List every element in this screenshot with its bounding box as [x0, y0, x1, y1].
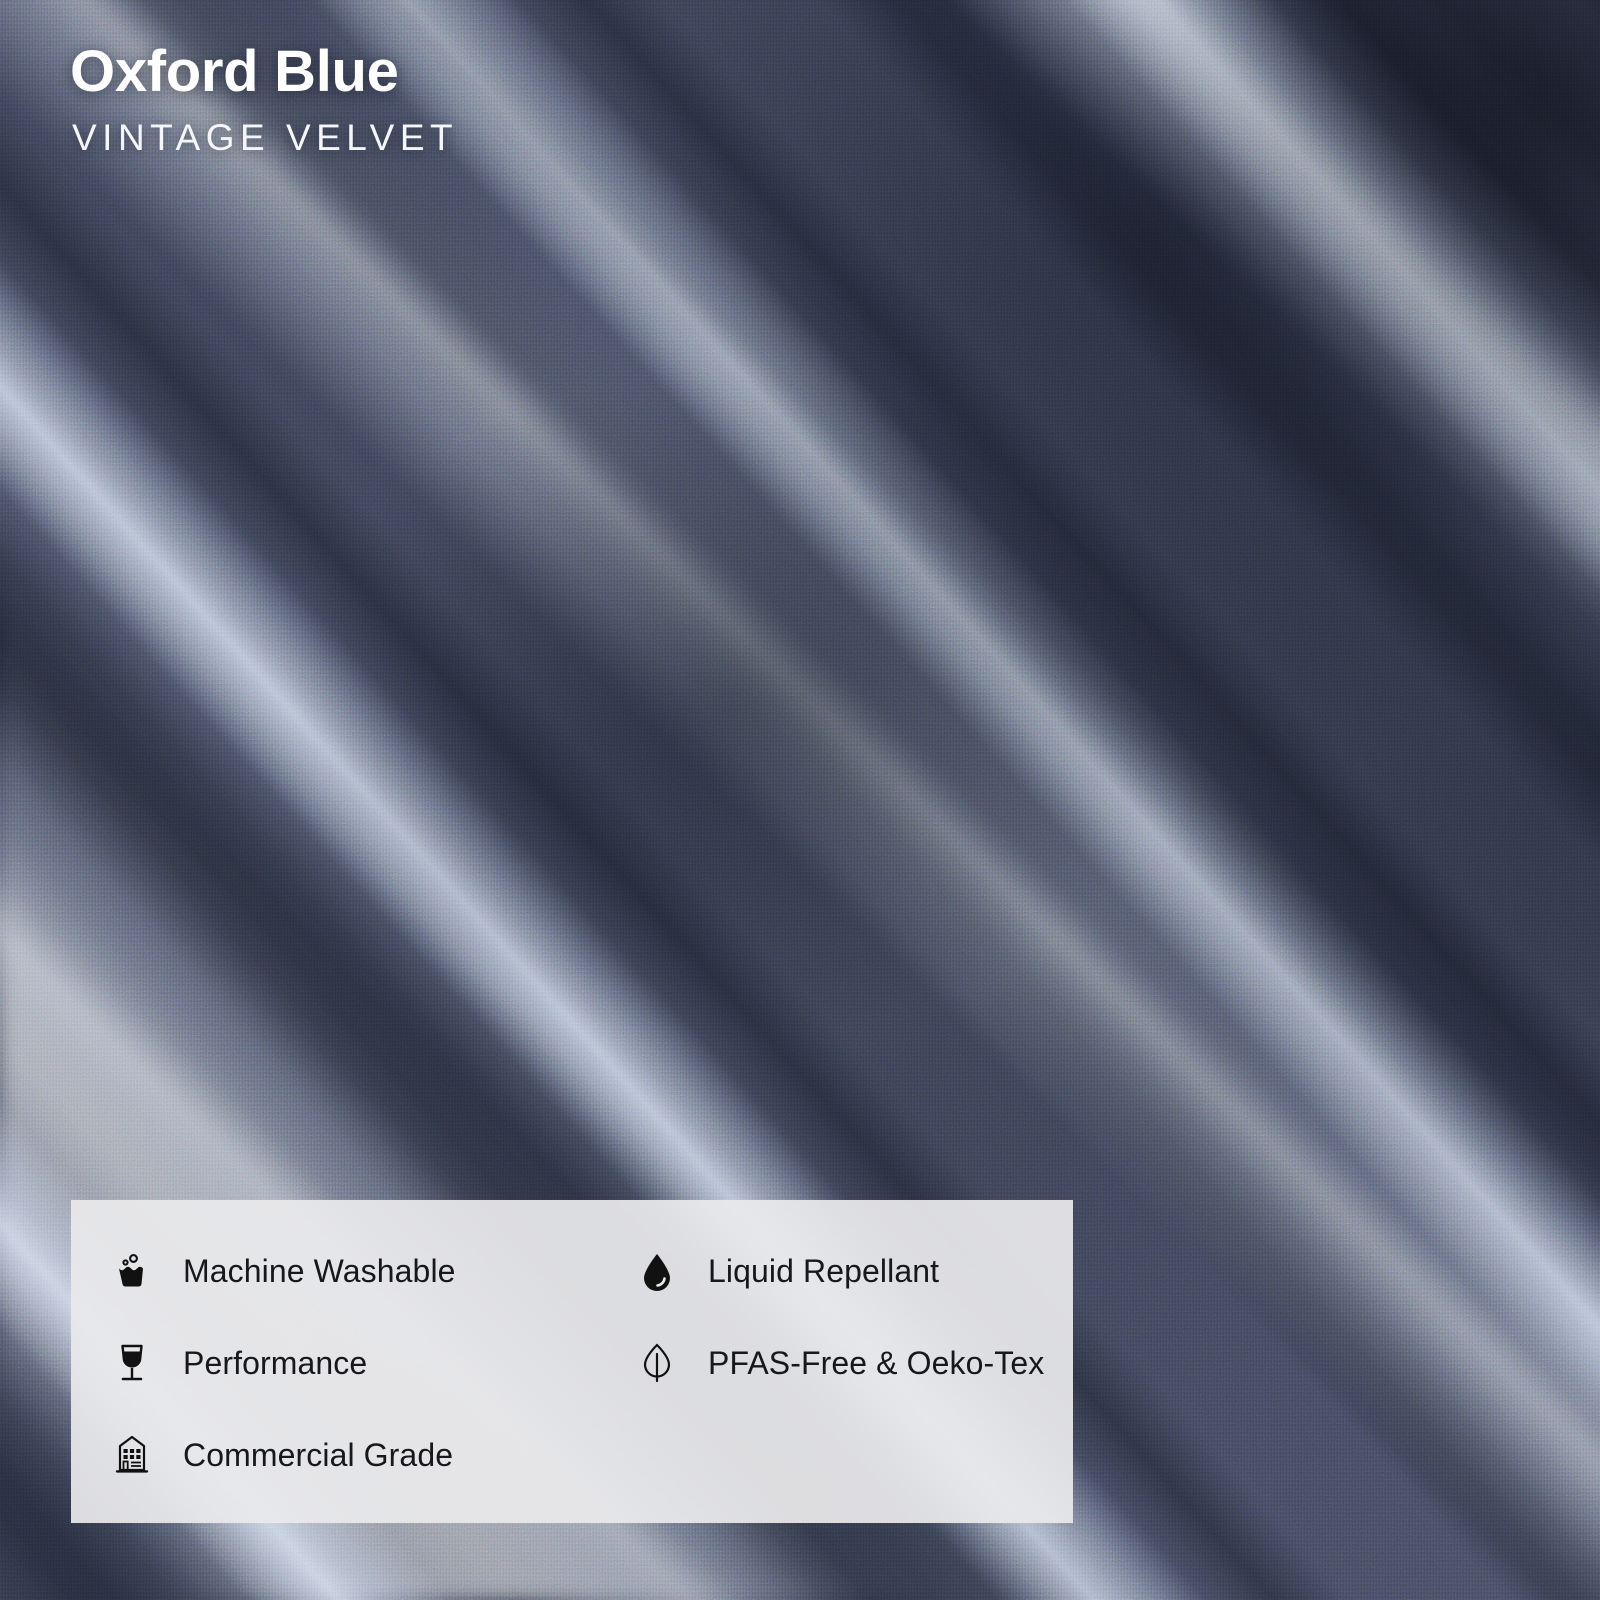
feature-commercial-grade: Commercial Grade	[109, 1409, 634, 1501]
water-drop-icon	[634, 1249, 680, 1295]
feature-label: PFAS-Free & Oeko-Tex	[708, 1345, 1044, 1382]
product-swatch-card: Oxford Blue VINTAGE VELVET Machine Washa…	[0, 0, 1600, 1600]
feature-performance: Performance	[109, 1318, 634, 1410]
wine-glass-icon	[109, 1340, 155, 1386]
feature-pfas-free-oeko-tex: PFAS-Free & Oeko-Tex	[634, 1318, 1073, 1410]
feature-slot-empty	[634, 1409, 1073, 1501]
feature-panel: Machine Washable Liquid Repellant	[71, 1200, 1073, 1523]
header-block: Oxford Blue VINTAGE VELVET	[70, 42, 458, 156]
feature-machine-washable: Machine Washable	[109, 1226, 634, 1318]
feature-liquid-repellant: Liquid Repellant	[634, 1226, 1073, 1318]
feature-label: Machine Washable	[183, 1253, 456, 1290]
page-subtitle: VINTAGE VELVET	[72, 119, 458, 156]
feature-label: Performance	[183, 1345, 367, 1382]
leaf-icon	[634, 1340, 680, 1386]
feature-label: Liquid Repellant	[708, 1253, 939, 1290]
wash-basin-icon	[109, 1249, 155, 1295]
page-title: Oxford Blue	[70, 42, 458, 103]
feature-label: Commercial Grade	[183, 1437, 453, 1474]
building-icon	[109, 1432, 155, 1478]
